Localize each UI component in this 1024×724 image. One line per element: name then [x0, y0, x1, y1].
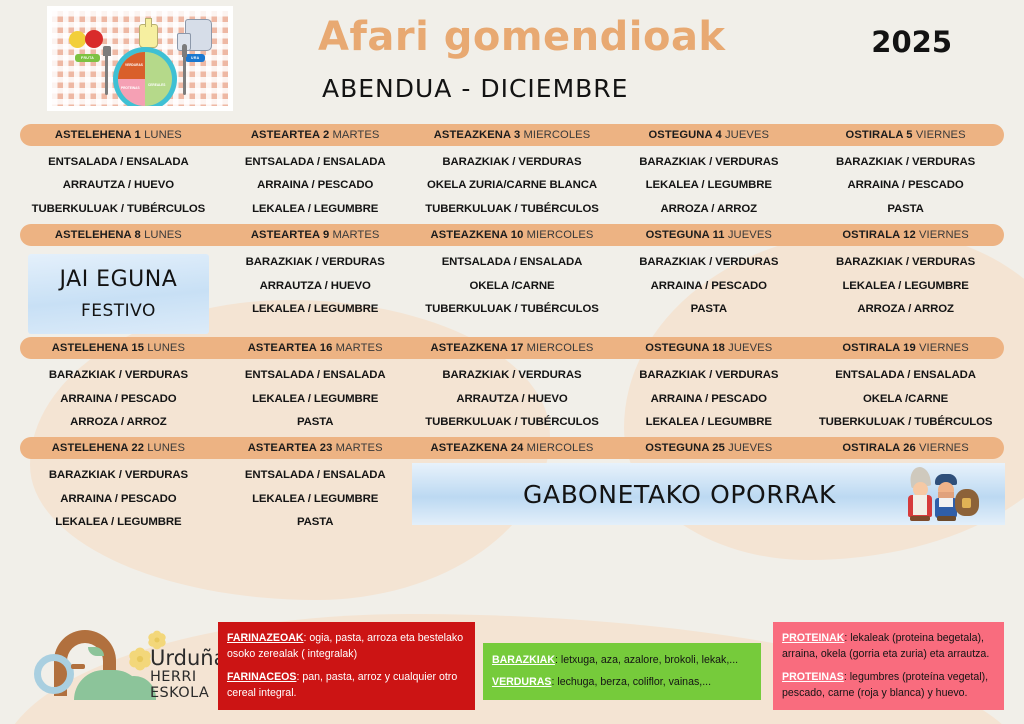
day-name-spanish: LUNES [147, 342, 185, 354]
meal-item: ARROZA / ARROZ [807, 298, 1004, 321]
meal-item: TUBERKULUAK / TUBÉRCULOS [20, 198, 217, 221]
day-header-cell: ASTEAZKENA 24 MIERCOLES [414, 442, 611, 454]
school-name: Urduña [150, 646, 226, 670]
day-header-cell: ASTEARTEA 16 MARTES [217, 342, 414, 354]
day-meals-column: BARAZKIAK / VERDURASARRAINA / PESCADOLEK… [610, 359, 807, 434]
day-name-spanish: LUNES [144, 129, 182, 141]
day-name-spanish: LUNES [144, 229, 182, 241]
ol-patch-shape [962, 498, 971, 508]
legend-key: PROTEINAS [782, 671, 844, 683]
day-header-cell: OSTEGUNA 18 JUEVES [610, 342, 807, 354]
day-name-basque: ASTEAZKENA 24 [431, 442, 527, 454]
day-name-basque: ASTEARTEA 23 [248, 442, 336, 454]
fork-icon [105, 53, 108, 95]
meal-item: LEKALEA / LEGUMBRE [217, 198, 414, 221]
day-name-basque: OSTIRALA 12 [842, 229, 919, 241]
legend-key: FARINAZEOAK [227, 632, 304, 644]
day-name-basque: ASTEARTEA 16 [248, 342, 336, 354]
day-name-spanish: JUEVES [728, 229, 772, 241]
day-name-spanish: MIERCOLES [527, 342, 594, 354]
legend-verduras: BARAZKIAK: letxuga, aza, azalore, brokol… [483, 643, 761, 700]
meal-item: BARAZKIAK / VERDURAS [414, 151, 611, 174]
day-name-basque: OSTEGUNA 4 [648, 129, 725, 141]
meal-item: ARRAUTZA / HUEVO [217, 275, 414, 298]
day-meals-column: JAI EGUNAFESTIVO [20, 246, 217, 334]
meal-item: BARAZKIAK / VERDURAS [414, 364, 611, 387]
meal-item: BARAZKIAK / VERDURAS [807, 151, 1004, 174]
day-name-spanish: VIERNES [919, 229, 969, 241]
day-name-spanish: VIERNES [919, 342, 969, 354]
legend-line-2: PROTEINAS: legumbres (proteína vegetal),… [782, 669, 995, 702]
holiday-label-basque: JAI EGUNA [60, 267, 178, 292]
meal-item: ENTSALADA / ENSALADA [807, 364, 1004, 387]
meal-item: TUBERKULUAK / TUBÉRCULOS [414, 411, 611, 434]
day-name-spanish: JUEVES [728, 442, 772, 454]
day-header-cell: ASTEARTEA 2 MARTES [217, 129, 414, 141]
meal-item: PASTA [610, 298, 807, 321]
meal-item: LEKALEA / LEGUMBRE [610, 174, 807, 197]
christmas-holiday-banner: GABONETAKO OPORRAK [412, 463, 1005, 525]
logo-flower-icon-1 [128, 647, 151, 670]
apple-icon [85, 30, 103, 48]
legend-line-1: BARAZKIAK: letxuga, aza, azalore, brokol… [492, 652, 752, 668]
day-meals-column: ENTSALADA / ENSALADALEKALEA / LEGUMBREPA… [217, 359, 414, 434]
day-header-cell: ASTELEHENA 1 LUNES [20, 129, 217, 141]
month-basque: ABENDUA [322, 74, 452, 103]
day-header-bar: ASTELEHENA 8 LUNESASTEARTEA 9 MARTESASTE… [20, 224, 1004, 246]
meal-item: BARAZKIAK / VERDURAS [20, 364, 217, 387]
legend-key: VERDURAS [492, 676, 551, 688]
day-header-cell: ASTEAZKENA 3 MIERCOLES [414, 129, 611, 141]
school-logo: Urduña HERRI ESKOLA [28, 620, 223, 700]
day-name-spanish: MIERCOLES [527, 229, 594, 241]
day-header-cell: OSTEGUNA 4 JUEVES [610, 129, 807, 141]
day-name-basque: OSTEGUNA 18 [645, 342, 728, 354]
legend-line-2: FARINACEOS: pan, pasta, arroz y cualquie… [227, 669, 466, 702]
meal-item: OKELA /CARNE [807, 388, 1004, 411]
meal-item: ENTSALADA / ENSALADA [20, 151, 217, 174]
day-name-basque: ASTEAZKENA 3 [434, 129, 524, 141]
week-row: ASTELEHENA 22 LUNESASTEARTEA 23 MARTESAS… [0, 437, 1024, 534]
poster-header: FRUTA URA VERDURAS PROTEINAS CEREALES [0, 0, 1024, 118]
day-name-basque: ASTELEHENA 8 [55, 229, 144, 241]
meal-item: ARRAUTZA / HUEVO [20, 174, 217, 197]
md-apron-shape [913, 495, 927, 515]
day-name-spanish: MARTES [332, 229, 379, 241]
school-subtitle: HERRI ESKOLA [150, 669, 223, 701]
day-meals-column: BARAZKIAK / VERDURASARRAINA / PESCADOLEK… [20, 459, 217, 534]
week-row: ASTELEHENA 15 LUNESASTEARTEA 16 MARTESAS… [0, 337, 1024, 434]
holiday-label-spanish: FESTIVO [81, 301, 156, 321]
day-name-spanish: MARTES [332, 129, 379, 141]
menu-weeks: ASTELEHENA 1 LUNESASTEARTEA 2 MARTESASTE… [0, 124, 1024, 535]
meal-item: ARRAUTZA / HUEVO [414, 388, 611, 411]
day-name-basque: ASTEARTEA 9 [251, 229, 333, 241]
meals-row: BARAZKIAK / VERDURASARRAINA / PESCADOARR… [20, 359, 1004, 434]
legend-text: : letxuga, aza, azalore, brokoli, lekak,… [555, 654, 738, 666]
poster-footer: Urduña HERRI ESKOLA FARINAZEOAK: ogia, p… [0, 620, 1024, 724]
week-row: ASTELEHENA 8 LUNESASTEARTEA 9 MARTESASTE… [0, 224, 1024, 334]
meal-item: TUBERKULUAK / TUBÉRCULOS [414, 198, 611, 221]
day-meals-column: BARAZKIAK / VERDURASARRAUTZA / HUEVOLEKA… [217, 246, 414, 334]
meal-item: BARAZKIAK / VERDURAS [610, 151, 807, 174]
day-header-bar: ASTELEHENA 15 LUNESASTEARTEA 16 MARTESAS… [20, 337, 1004, 359]
meal-item: ARRAINA / PESCADO [807, 174, 1004, 197]
legend-key: BARAZKIAK [492, 654, 555, 666]
logo-ring-shape [34, 654, 74, 694]
legend-text: : lechuga, berza, coliflor, vainas,... [551, 676, 711, 688]
day-name-spanish: LUNES [147, 442, 185, 454]
day-meals-column: ENTSALADA / ENSALADAARRAUTZA / HUEVOTUBE… [20, 146, 217, 221]
meal-item: ARROZA / ARROZ [610, 198, 807, 221]
meal-item: ARRAINA / PESCADO [610, 275, 807, 298]
day-header-cell: ASTELEHENA 22 LUNES [20, 442, 217, 454]
lemon-icon [69, 31, 86, 48]
day-meals-column: ENTSALADA / ENSALADAOKELA /CARNETUBERKUL… [414, 246, 611, 334]
day-name-basque: OSTIRALA 26 [842, 442, 919, 454]
week-row: ASTELEHENA 1 LUNESASTEARTEA 2 MARTESASTE… [0, 124, 1024, 221]
meal-item: ARRAINA / PESCADO [20, 488, 217, 511]
meal-item: ENTSALADA / ENSALADA [414, 251, 611, 274]
month-separator: - [452, 74, 480, 103]
day-header-cell: ASTELEHENA 8 LUNES [20, 229, 217, 241]
day-name-basque: ASTELEHENA 15 [52, 342, 147, 354]
plate-icon: VERDURAS PROTEINAS CEREALES [113, 47, 177, 106]
day-meals-column: ENTSALADA / ENSALADAOKELA /CARNETUBERKUL… [807, 359, 1004, 434]
day-name-basque: ASTELEHENA 22 [52, 442, 147, 454]
md-foot-shape [910, 516, 930, 521]
plate-face: VERDURAS PROTEINAS CEREALES [118, 52, 172, 106]
meal-item: LEKALEA / LEGUMBRE [807, 275, 1004, 298]
day-meals-column: ENTSALADA / ENSALADAARRAINA / PESCADOLEK… [217, 146, 414, 221]
day-name-spanish: VIERNES [919, 442, 969, 454]
meal-item: TUBERKULUAK / TUBÉRCULOS [414, 298, 611, 321]
meal-item: ENTSALADA / ENSALADA [217, 364, 414, 387]
knife-icon [183, 53, 186, 95]
meal-item: BARAZKIAK / VERDURAS [20, 464, 217, 487]
day-meals-column: BARAZKIAK / VERDURASLEKALEA / LEGUMBREAR… [610, 146, 807, 221]
poster-year: 2025 [871, 25, 952, 59]
day-name-spanish: MIERCOLES [523, 129, 590, 141]
day-header-bar: ASTELEHENA 1 LUNESASTEARTEA 2 MARTESASTE… [20, 124, 1004, 146]
oil-bottle-icon [139, 24, 158, 48]
meals-row: JAI EGUNAFESTIVOBARAZKIAK / VERDURASARRA… [20, 246, 1004, 334]
tablecloth: FRUTA URA VERDURAS PROTEINAS CEREALES [52, 11, 228, 106]
fruta-tag: FRUTA [75, 54, 100, 62]
meal-item: ARRAINA / PESCADO [610, 388, 807, 411]
month-spanish: DICIEMBRE [480, 74, 628, 103]
logo-stem-shape [71, 664, 85, 669]
olentzero-maridomingi-illustration [897, 465, 989, 523]
meal-item: BARAZKIAK / VERDURAS [217, 251, 414, 274]
day-name-basque: OSTEGUNA 11 [646, 229, 728, 241]
menu-poster: FRUTA URA VERDURAS PROTEINAS CEREALES [0, 0, 1024, 724]
legend-line-2: VERDURAS: lechuga, berza, coliflor, vain… [492, 674, 752, 690]
poster-title: Afari gomendioak [318, 14, 726, 60]
meal-item: ENTSALADA / ENSALADA [217, 151, 414, 174]
meal-item: LEKALEA / LEGUMBRE [20, 511, 217, 534]
meals-row: ENTSALADA / ENSALADAARRAUTZA / HUEVOTUBE… [20, 146, 1004, 221]
day-header-cell: ASTEAZKENA 17 MIERCOLES [414, 342, 611, 354]
day-name-spanish: JUEVES [725, 129, 769, 141]
meal-item: OKELA /CARNE [414, 275, 611, 298]
meal-item: ENTSALADA / ENSALADA [217, 464, 414, 487]
legend-line-1: PROTEINAK: lekaleak (proteina begetala),… [782, 630, 995, 663]
day-header-cell: ASTEARTEA 23 MARTES [217, 442, 414, 454]
ol-shirt-shape [939, 498, 953, 507]
meal-item: PASTA [807, 198, 1004, 221]
poster-month: ABENDUA - DICIEMBRE [322, 74, 628, 103]
legend-key: FARINACEOS [227, 671, 296, 683]
meal-item: PASTA [217, 511, 414, 534]
day-meals-column: BARAZKIAK / VERDURASARRAINA / PESCADOPAS… [807, 146, 1004, 221]
day-header-cell: ASTEARTEA 9 MARTES [217, 229, 414, 241]
day-header-cell: OSTIRALA 5 VIERNES [807, 129, 1004, 141]
healthy-plate-illustration: FRUTA URA VERDURAS PROTEINAS CEREALES [47, 6, 233, 111]
day-name-spanish: MIERCOLES [527, 442, 594, 454]
meal-item: BARAZKIAK / VERDURAS [610, 251, 807, 274]
day-meals-column: BARAZKIAK / VERDURASOKELA ZURIA/CARNE BL… [414, 146, 611, 221]
day-name-spanish: MARTES [336, 442, 383, 454]
day-header-cell: ASTELEHENA 15 LUNES [20, 342, 217, 354]
day-header-bar: ASTELEHENA 22 LUNESASTEARTEA 23 MARTESAS… [20, 437, 1004, 459]
ol-foot-shape [937, 516, 956, 521]
day-header-cell: OSTIRALA 26 VIERNES [807, 442, 1004, 454]
day-name-spanish: MARTES [336, 342, 383, 354]
legend-farinaceos: FARINAZEOAK: ogia, pasta, arroza eta bes… [218, 622, 475, 710]
day-header-cell: OSTIRALA 12 VIERNES [807, 229, 1004, 241]
day-name-basque: ASTEAZKENA 10 [431, 229, 527, 241]
meal-item: ARROZA / ARROZ [20, 411, 217, 434]
day-header-cell: OSTEGUNA 11 JUEVES [610, 229, 807, 241]
meal-item: BARAZKIAK / VERDURAS [807, 251, 1004, 274]
day-meals-column: BARAZKIAK / VERDURASARRAINA / PESCADOARR… [20, 359, 217, 434]
meal-item: TUBERKULUAK / TUBÉRCULOS [807, 411, 1004, 434]
meal-item: LEKALEA / LEGUMBRE [217, 388, 414, 411]
plate-label-proteinas: PROTEINAS [121, 86, 140, 90]
meal-item: ARRAINA / PESCADO [217, 174, 414, 197]
day-name-basque: ASTEAZKENA 17 [431, 342, 527, 354]
meal-item: BARAZKIAK / VERDURAS [610, 364, 807, 387]
meal-item: ARRAINA / PESCADO [20, 388, 217, 411]
day-name-spanish: JUEVES [728, 342, 772, 354]
day-meals-column: BARAZKIAK / VERDURASARRAUTZA / HUEVOTUBE… [414, 359, 611, 434]
meal-item: LEKALEA / LEGUMBRE [217, 298, 414, 321]
day-meals-column: BARAZKIAK / VERDURASLEKALEA / LEGUMBREAR… [807, 246, 1004, 334]
meal-item: LEKALEA / LEGUMBRE [217, 488, 414, 511]
meal-item: OKELA ZURIA/CARNE BLANCA [414, 174, 611, 197]
legend-key: PROTEINAK [782, 632, 844, 644]
holiday-box: JAI EGUNAFESTIVO [28, 254, 209, 334]
christmas-banner-label: GABONETAKO OPORRAK [412, 480, 897, 509]
day-meals-column: BARAZKIAK / VERDURASARRAINA / PESCADOPAS… [610, 246, 807, 334]
meal-item: LEKALEA / LEGUMBRE [610, 411, 807, 434]
day-meals-column: ENTSALADA / ENSALADALEKALEA / LEGUMBREPA… [217, 459, 414, 534]
day-name-spanish: VIERNES [916, 129, 966, 141]
day-name-basque: ASTEARTEA 2 [251, 129, 333, 141]
legend-line-1: FARINAZEOAK: ogia, pasta, arroza eta bes… [227, 630, 466, 663]
plate-slice-proteinas [118, 79, 145, 106]
ura-tag: URA [185, 54, 205, 62]
day-header-cell: OSTEGUNA 25 JUEVES [610, 442, 807, 454]
day-name-basque: OSTIRALA 5 [846, 129, 916, 141]
day-header-cell: ASTEAZKENA 10 MIERCOLES [414, 229, 611, 241]
plate-label-verduras: VERDURAS [125, 63, 143, 67]
day-header-cell: OSTIRALA 19 VIERNES [807, 342, 1004, 354]
legend-proteinas: PROTEINAK: lekaleak (proteina begetala),… [773, 622, 1004, 710]
day-name-basque: ASTELEHENA 1 [55, 129, 144, 141]
day-name-basque: OSTEGUNA 25 [645, 442, 728, 454]
meal-item: PASTA [217, 411, 414, 434]
plate-label-cereales: CEREALES [148, 83, 165, 87]
day-name-basque: OSTIRALA 19 [842, 342, 919, 354]
